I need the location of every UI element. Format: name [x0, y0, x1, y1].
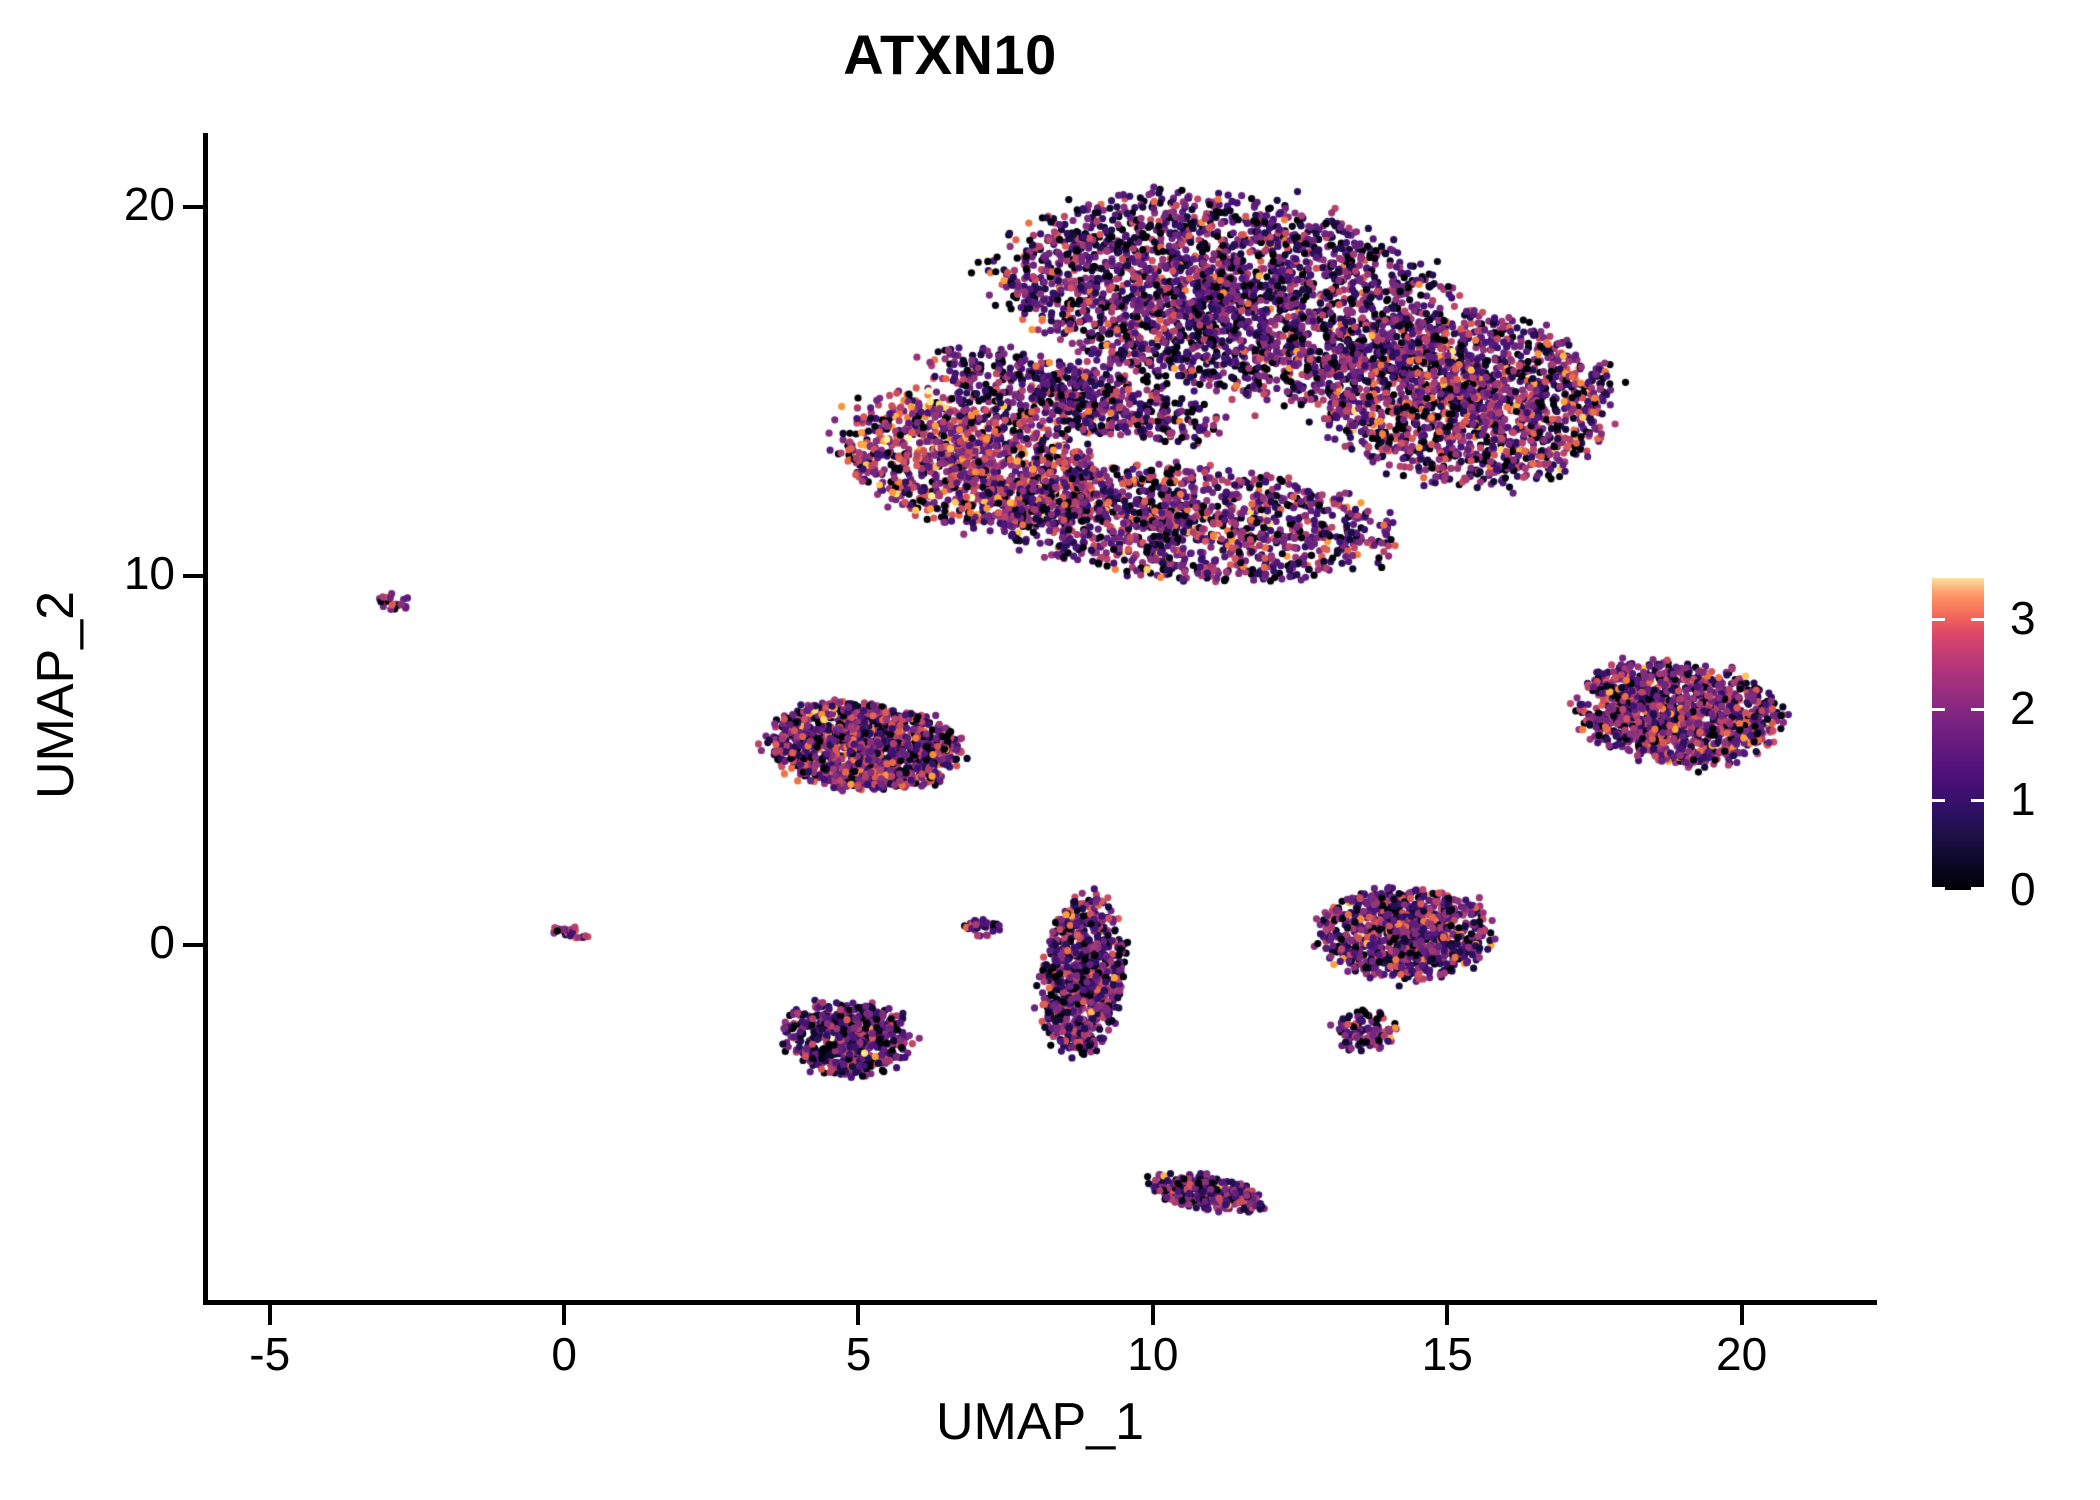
colorbar-legend: 3210	[1932, 578, 2092, 898]
x-tick-label: 0	[484, 1327, 644, 1381]
colorbar-tick-mark	[1971, 887, 1984, 890]
y-tick-mark	[183, 574, 203, 578]
scatter-plot-area	[205, 133, 1877, 1300]
y-axis-label: UMAP_2	[26, 109, 86, 1281]
scatter-points	[205, 133, 1877, 1300]
x-tick-mark	[268, 1305, 272, 1325]
colorbar-gradient	[1932, 578, 1984, 890]
x-tick-label: 20	[1662, 1327, 1822, 1381]
x-tick-mark	[856, 1305, 860, 1325]
y-tick-mark	[183, 205, 203, 209]
colorbar-tick-mark	[1971, 708, 1984, 711]
x-tick-label: 10	[1073, 1327, 1233, 1381]
x-tick-label: -5	[190, 1327, 350, 1381]
x-tick-mark	[562, 1305, 566, 1325]
x-axis-label: UMAP_1	[203, 1392, 1877, 1452]
colorbar-tick-label: 3	[2010, 595, 2036, 641]
colorbar-tick-label: 0	[2010, 866, 2036, 912]
x-tick-mark	[1445, 1305, 1449, 1325]
x-tick-mark	[1151, 1305, 1155, 1325]
colorbar-tick-mark	[1971, 618, 1984, 621]
colorbar-tick-mark	[1932, 618, 1945, 621]
x-tick-label: 5	[778, 1327, 938, 1381]
colorbar-tick-mark	[1971, 799, 1984, 802]
colorbar-tick-mark	[1932, 708, 1945, 711]
x-tick-label: 15	[1367, 1327, 1527, 1381]
colorbar-tick-mark	[1932, 887, 1945, 890]
colorbar-tick-label: 1	[2010, 776, 2036, 822]
x-tick-mark	[1740, 1305, 1744, 1325]
colorbar-tick-label: 2	[2010, 685, 2036, 731]
x-axis-line	[203, 1300, 1877, 1305]
colorbar-tick-mark	[1932, 799, 1945, 802]
umap-feature-plot: ATXN10 -505101520 01020 UMAP_1 UMAP_2 32…	[0, 0, 2100, 1500]
page-title: ATXN10	[0, 22, 1900, 87]
y-tick-mark	[183, 943, 203, 947]
